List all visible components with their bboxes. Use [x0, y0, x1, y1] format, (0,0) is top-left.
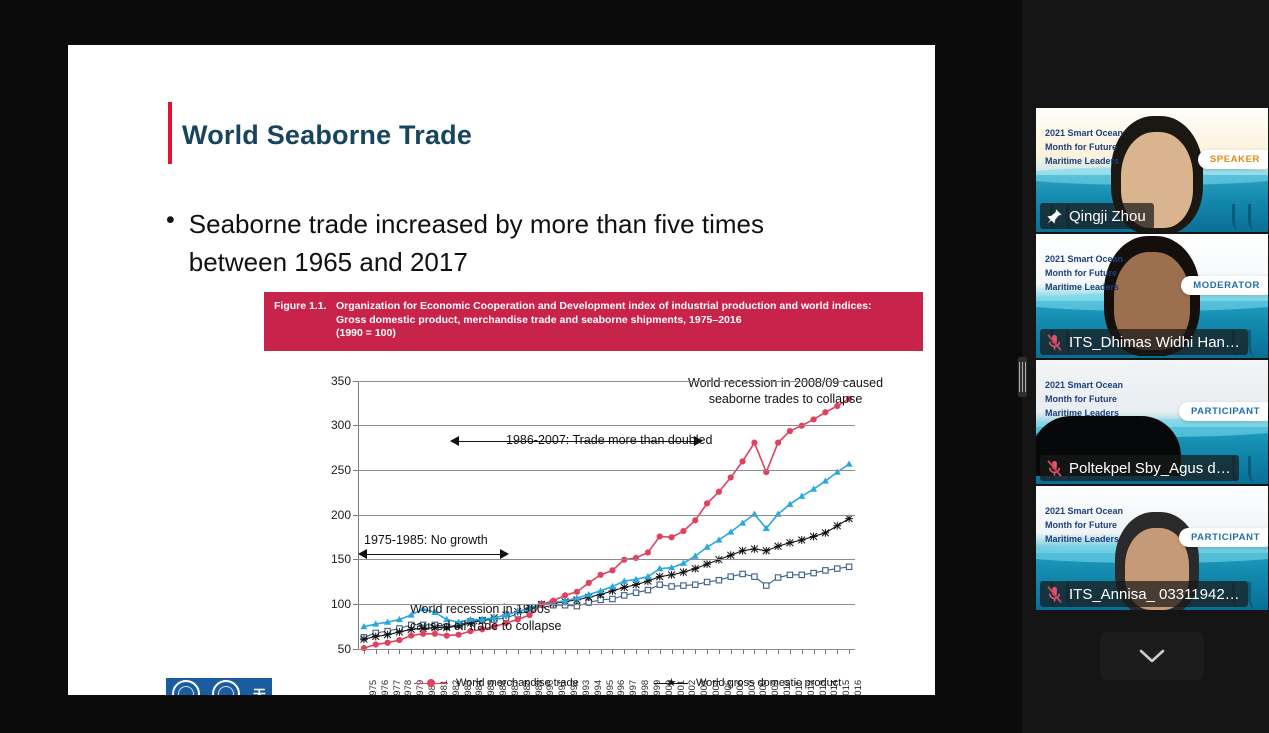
x-tick-mark: [814, 649, 815, 654]
legend-marker-icon: [414, 677, 448, 689]
x-tick-mark: [482, 649, 483, 654]
x-tick-mark: [364, 649, 365, 654]
x-tick-mark: [494, 649, 495, 654]
participant-name: Qingji Zhou: [1069, 208, 1146, 225]
data-point: [810, 416, 816, 422]
data-point: [798, 536, 806, 544]
x-tick-mark: [423, 649, 424, 654]
gridline: [358, 515, 855, 516]
x-tick-mark: [849, 649, 850, 654]
role-badge: PARTICIPANT: [1179, 402, 1268, 421]
seaweed-icon: [1248, 330, 1263, 356]
x-tick-mark: [766, 649, 767, 654]
annotation-trade-doubled-arrow-right: [694, 436, 703, 446]
data-point: [574, 588, 580, 594]
data-point: [396, 628, 404, 636]
background-overlay-line: Month for Future: [1045, 140, 1123, 154]
x-tick-mark: [601, 649, 602, 654]
organization-logos: 天: [166, 678, 272, 695]
y-tick-mark: [353, 515, 358, 516]
annotation-no-growth-arrow-right: [500, 549, 509, 559]
role-badge: PARTICIPANT: [1179, 528, 1268, 547]
data-point: [704, 500, 710, 506]
x-tick-mark: [825, 649, 826, 654]
x-tick-label: 1977: [392, 679, 403, 695]
x-tick-mark: [589, 649, 590, 654]
x-tick-mark: [506, 649, 507, 654]
data-point: [764, 582, 769, 587]
scroll-down-button[interactable]: [1100, 632, 1204, 680]
bullet-marker: •: [166, 205, 175, 235]
shared-content-stage[interactable]: World Seaborne Trade • Seaborne trade in…: [0, 0, 1022, 733]
x-tick-mark: [411, 649, 412, 654]
data-point: [775, 574, 780, 579]
grip-line: [1025, 362, 1026, 392]
background-overlay-line: Month for Future: [1045, 392, 1123, 406]
panel-resize-handle[interactable]: [1018, 357, 1027, 397]
data-point: [360, 635, 368, 643]
grip-line: [1019, 362, 1020, 392]
annotation-recession-1980s-line-2: caused oil trade to collapse: [410, 618, 561, 635]
x-tick-label: 1975: [368, 679, 379, 695]
x-tick-mark: [648, 649, 649, 654]
x-tick-mark: [553, 649, 554, 654]
x-tick-mark: [695, 649, 696, 654]
maritime-seal-icon: [212, 680, 240, 695]
background-overlay-text: 2021 Smart OceanMonth for FutureMaritime…: [1045, 504, 1123, 546]
data-point: [823, 567, 828, 572]
data-point: [610, 596, 615, 601]
data-point: [799, 572, 804, 577]
bullet-line-1: Seaborne trade increased by more than fi…: [189, 209, 764, 239]
seaweed-icon: [1232, 204, 1247, 230]
background-overlay-line: 2021 Smart Ocean: [1045, 252, 1123, 266]
data-point: [656, 572, 664, 580]
annotation-recession-1980s: World recession in 1980s caused oil trad…: [410, 601, 561, 635]
data-point: [704, 579, 709, 584]
figure-block: Figure 1.1. Organization for Economic Co…: [264, 292, 923, 695]
data-point: [728, 474, 734, 480]
y-tick-label: 150: [331, 552, 351, 566]
data-point: [669, 583, 674, 588]
participant-name: Poltekpel Sby_Agus d…: [1069, 460, 1231, 477]
y-tick-mark: [353, 470, 358, 471]
chart-legend: World merchandise tradeWorld gross domes…: [414, 677, 894, 695]
legend-label: World merchandise trade: [456, 677, 579, 689]
data-point: [786, 538, 794, 546]
data-point: [693, 581, 698, 586]
x-tick-label: 1976: [380, 679, 391, 695]
line-chart: World recession in 2008/09 caused seabor…: [264, 369, 923, 669]
data-point: [632, 580, 640, 588]
data-point: [372, 632, 380, 640]
figure-number: Figure 1.1.: [274, 300, 336, 341]
data-point: [373, 641, 379, 647]
legend-marker-icon: [654, 677, 688, 689]
data-point: [691, 564, 699, 572]
background-overlay-line: Maritime Leaders: [1045, 280, 1123, 294]
participant-name-bar: Poltekpel Sby_Agus d…: [1040, 455, 1239, 481]
gridline: [358, 381, 855, 382]
x-tick-mark: [612, 649, 613, 654]
data-point: [620, 583, 628, 591]
pin-icon: [1045, 207, 1064, 226]
participant-tile[interactable]: 2021 Smart OceanMonth for FutureMaritime…: [1036, 234, 1268, 358]
y-tick-mark: [353, 425, 358, 426]
x-tick-mark: [754, 649, 755, 654]
y-tick-mark: [353, 604, 358, 605]
data-point: [833, 521, 841, 529]
x-tick-mark: [470, 649, 471, 654]
data-point: [586, 579, 592, 585]
x-tick-mark: [577, 649, 578, 654]
data-point: [740, 571, 745, 576]
annotation-recession-2008-line-2: seaborne trades to collapse: [688, 391, 883, 407]
x-tick-mark: [447, 649, 448, 654]
data-point: [692, 517, 698, 523]
data-point: [597, 571, 603, 577]
figure-caption-line-3: (1990 = 100): [336, 327, 913, 341]
background-overlay-line: Maritime Leaders: [1045, 532, 1123, 546]
x-tick-mark: [624, 649, 625, 654]
data-point: [822, 409, 828, 415]
data-point: [846, 564, 851, 569]
data-point: [774, 542, 782, 550]
data-point: [728, 573, 733, 578]
x-tick-mark: [636, 649, 637, 654]
chevron-down-icon: [1139, 648, 1165, 664]
participant-name-bar: ITS_Dhimas Widhi Han…: [1040, 329, 1248, 355]
data-point: [633, 590, 638, 595]
data-point: [681, 582, 686, 587]
page-title: World Seaborne Trade: [182, 120, 472, 151]
annotation-recession-2008-line-1: World recession in 2008/09 caused: [688, 375, 883, 391]
data-point: [751, 545, 759, 553]
x-tick-label: 1978: [403, 679, 414, 695]
gridline: [358, 425, 855, 426]
y-tick-label: 350: [331, 374, 351, 388]
background-overlay-line: 2021 Smart Ocean: [1045, 504, 1123, 518]
data-point: [845, 460, 852, 466]
gridline: [358, 604, 855, 605]
seaweed-icon: [1248, 204, 1263, 230]
partner-logo-icon: 天: [253, 688, 266, 696]
data-point: [798, 492, 805, 498]
data-point: [775, 439, 781, 445]
annotation-trade-doubled-arrow-left: [450, 436, 459, 446]
background-overlay-line: Maritime Leaders: [1045, 154, 1123, 168]
x-tick-mark: [719, 649, 720, 654]
title-accent-bar: [168, 102, 172, 164]
background-overlay-line: Maritime Leaders: [1045, 406, 1123, 420]
plot-area: World recession in 2008/09 caused seabor…: [358, 381, 855, 649]
background-overlay-line: 2021 Smart Ocean: [1045, 126, 1123, 140]
x-tick-mark: [683, 649, 684, 654]
x-tick-mark: [565, 649, 566, 654]
y-tick-label: 100: [331, 597, 351, 611]
data-point: [752, 573, 757, 578]
participant-name: ITS_Annisa_ 03311942…: [1069, 586, 1240, 603]
data-point: [835, 565, 840, 570]
role-badge: SPEAKER: [1198, 150, 1268, 169]
x-tick-mark: [743, 649, 744, 654]
data-point: [822, 528, 830, 536]
bullet-line-2: between 1965 and 2017: [189, 243, 764, 281]
data-point: [645, 549, 651, 555]
bullet-list: • Seaborne trade increased by more than …: [166, 205, 935, 281]
x-tick-mark: [672, 649, 673, 654]
x-tick-mark: [802, 649, 803, 654]
background-overlay-text: 2021 Smart OceanMonth for FutureMaritime…: [1045, 378, 1123, 420]
data-point: [703, 560, 711, 568]
data-point: [810, 532, 818, 540]
data-point: [680, 568, 688, 576]
data-point: [645, 587, 650, 592]
participant-name-bar: ITS_Annisa_ 03311942…: [1040, 581, 1248, 607]
mic-muted-icon: [1045, 585, 1064, 604]
data-point: [668, 570, 676, 578]
x-tick-mark: [399, 649, 400, 654]
seaweed-icon: [1248, 456, 1263, 482]
data-point: [716, 577, 721, 582]
meeting-screen-share-window: World Seaborne Trade • Seaborne trade in…: [0, 0, 1269, 733]
figure-caption-line-2: Gross domestic product, merchandise trad…: [336, 314, 913, 328]
mic-muted-icon: [1045, 333, 1064, 352]
y-tick-label: 250: [331, 463, 351, 477]
university-seal-icon: [172, 680, 200, 695]
annotation-recession-2008: World recession in 2008/09 caused seabor…: [688, 375, 883, 407]
y-tick-label: 300: [331, 418, 351, 432]
y-tick-label: 200: [331, 508, 351, 522]
presentation-slide: World Seaborne Trade • Seaborne trade in…: [68, 45, 935, 695]
bullet-text: Seaborne trade increased by more than fi…: [189, 205, 764, 281]
seaweed-icon: [1248, 582, 1263, 608]
x-tick-mark: [530, 649, 531, 654]
data-point: [680, 527, 686, 533]
data-point: [622, 592, 627, 597]
x-tick-mark: [388, 649, 389, 654]
data-point: [739, 458, 745, 464]
x-tick-mark: [435, 649, 436, 654]
legend-item: World gross domestic product: [654, 677, 894, 689]
data-point: [384, 630, 392, 638]
x-tick-mark: [731, 649, 732, 654]
y-tick-mark: [353, 381, 358, 382]
data-point: [657, 581, 662, 586]
x-tick-mark: [518, 649, 519, 654]
data-point: [396, 636, 402, 642]
x-tick-mark: [778, 649, 779, 654]
data-point: [787, 572, 792, 577]
data-point: [727, 551, 735, 559]
data-point: [762, 546, 770, 554]
participant-name: ITS_Dhimas Widhi Han…: [1069, 334, 1240, 351]
gridline: [358, 559, 855, 560]
background-overlay-line: Month for Future: [1045, 518, 1123, 532]
x-tick-mark: [790, 649, 791, 654]
participant-name-bar: Qingji Zhou: [1040, 203, 1154, 229]
participant-tile[interactable]: 2021 Smart OceanMonth for FutureMaritime…: [1036, 360, 1268, 484]
x-tick-mark: [660, 649, 661, 654]
background-overlay-text: 2021 Smart OceanMonth for FutureMaritime…: [1045, 252, 1123, 294]
figure-caption: Figure 1.1. Organization for Economic Co…: [264, 292, 923, 351]
figure-caption-text: Organization for Economic Cooperation an…: [336, 300, 913, 341]
data-point: [751, 439, 757, 445]
y-tick-label: 50: [338, 642, 351, 656]
legend-label: World gross domestic product: [696, 677, 841, 689]
x-tick-mark: [707, 649, 708, 654]
x-tick-mark: [376, 649, 377, 654]
data-point: [811, 570, 816, 575]
figure-caption-line-1: Organization for Economic Cooperation an…: [336, 300, 913, 314]
background-overlay-text: 2021 Smart OceanMonth for FutureMaritime…: [1045, 126, 1123, 168]
annotation-no-growth-arrow-left: [358, 549, 367, 559]
annotation-no-growth: 1975-1985: No growth: [364, 533, 488, 547]
annotation-trade-doubled: 1986-2007: Trade more than doubled: [506, 433, 712, 447]
data-point: [739, 546, 747, 554]
annotation-no-growth-arrow-line: [366, 554, 502, 555]
data-point: [562, 592, 568, 598]
participant-tile[interactable]: 2021 Smart OceanMonth for FutureMaritime…: [1036, 486, 1268, 610]
gridline: [358, 470, 855, 471]
legend-item: World merchandise trade: [414, 677, 654, 689]
data-point: [609, 567, 615, 573]
y-tick-mark: [353, 559, 358, 560]
data-point: [787, 427, 793, 433]
data-point: [703, 543, 710, 549]
data-point: [384, 639, 390, 645]
background-overlay-line: Month for Future: [1045, 266, 1123, 280]
grip-line: [1022, 362, 1023, 392]
data-point: [668, 534, 674, 540]
data-point: [716, 488, 722, 494]
x-tick-mark: [541, 649, 542, 654]
annotation-trade-doubled-arrow-line: [458, 441, 696, 442]
participant-filmstrip[interactable]: 2021 Smart OceanMonth for FutureMaritime…: [1036, 108, 1268, 688]
mic-muted-icon: [1045, 459, 1064, 478]
x-tick-mark: [837, 649, 838, 654]
participant-tile[interactable]: 2021 Smart OceanMonth for FutureMaritime…: [1036, 108, 1268, 232]
role-badge: MODERATOR: [1181, 276, 1268, 295]
x-tick-mark: [459, 649, 460, 654]
data-point: [657, 533, 663, 539]
background-overlay-line: 2021 Smart Ocean: [1045, 378, 1123, 392]
